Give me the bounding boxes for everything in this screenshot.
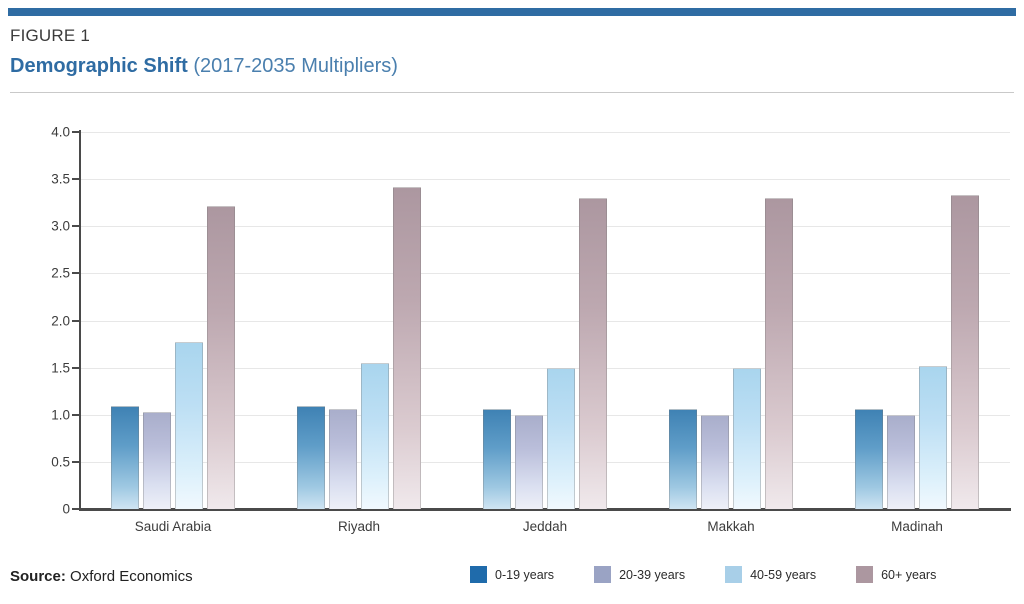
- bar-group: [111, 132, 235, 509]
- y-axis-tick-label: 2.0: [8, 313, 70, 328]
- legend-swatch-icon: [725, 566, 742, 583]
- plot-area: [80, 132, 1010, 509]
- bar[interactable]: [297, 406, 325, 509]
- bar[interactable]: [669, 409, 697, 509]
- legend-item[interactable]: 0-19 years: [470, 566, 554, 583]
- chart-legend: 0-19 years20-39 years40-59 years60+ year…: [470, 566, 936, 583]
- y-axis-tick: [72, 272, 81, 274]
- x-axis-category-label: Riyadh: [338, 519, 380, 534]
- bar[interactable]: [701, 415, 729, 509]
- y-axis-tick-label: 3.5: [8, 172, 70, 187]
- bar[interactable]: [515, 415, 543, 509]
- y-axis-tick-label: 3.0: [8, 219, 70, 234]
- bar[interactable]: [887, 415, 915, 509]
- y-axis-tick: [72, 178, 81, 180]
- bar[interactable]: [393, 187, 421, 509]
- legend-label: 20-39 years: [619, 568, 685, 582]
- bar-group: [483, 132, 607, 509]
- bar[interactable]: [361, 363, 389, 509]
- y-axis-labels: 00.51.01.52.02.53.03.54.0: [0, 0, 70, 604]
- y-axis-tick: [72, 367, 81, 369]
- y-axis-tick-label: 4.0: [8, 125, 70, 140]
- legend-label: 0-19 years: [495, 568, 554, 582]
- bar-group: [297, 132, 421, 509]
- y-axis-tick-label: 1.5: [8, 360, 70, 375]
- bar[interactable]: [547, 368, 575, 509]
- x-axis-category-label: Jeddah: [523, 519, 567, 534]
- y-axis-tick-label: 2.5: [8, 266, 70, 281]
- x-axis-category-label: Saudi Arabia: [135, 519, 212, 534]
- y-axis-tick-label: 0: [8, 502, 70, 517]
- bar[interactable]: [175, 342, 203, 509]
- source-value: Oxford Economics: [70, 568, 193, 585]
- bar[interactable]: [329, 409, 357, 509]
- figure-container: FIGURE 1 Demographic Shift (2017-2035 Mu…: [0, 0, 1024, 604]
- y-axis-tick: [72, 320, 81, 322]
- bar-group: [669, 132, 793, 509]
- legend-item[interactable]: 60+ years: [856, 566, 936, 583]
- bar-group: [855, 132, 979, 509]
- bar[interactable]: [951, 195, 979, 509]
- y-axis-tick: [72, 131, 81, 133]
- header-divider: [10, 92, 1014, 93]
- y-axis-tick: [72, 414, 81, 416]
- bar[interactable]: [579, 198, 607, 509]
- legend-swatch-icon: [470, 566, 487, 583]
- y-axis-tick-label: 1.0: [8, 407, 70, 422]
- figure-title-sub: (2017-2035 Multipliers): [193, 55, 398, 77]
- y-axis-tick-label: 0.5: [8, 454, 70, 469]
- bar[interactable]: [855, 409, 883, 509]
- legend-swatch-icon: [594, 566, 611, 583]
- legend-item[interactable]: 40-59 years: [725, 566, 816, 583]
- x-axis-category-label: Madinah: [891, 519, 943, 534]
- bar[interactable]: [919, 366, 947, 509]
- legend-item[interactable]: 20-39 years: [594, 566, 685, 583]
- bar[interactable]: [207, 206, 235, 509]
- header-accent-bar: [8, 8, 1016, 16]
- bar[interactable]: [111, 406, 139, 509]
- source-note: Source: Oxford Economics: [10, 568, 193, 585]
- legend-label: 60+ years: [881, 568, 936, 582]
- bar[interactable]: [483, 409, 511, 509]
- bar[interactable]: [765, 198, 793, 509]
- legend-label: 40-59 years: [750, 568, 816, 582]
- y-axis-tick: [72, 461, 81, 463]
- bar[interactable]: [143, 412, 171, 509]
- x-axis-category-label: Makkah: [707, 519, 754, 534]
- source-label: Source:: [10, 568, 66, 585]
- y-axis-tick: [72, 508, 81, 510]
- legend-swatch-icon: [856, 566, 873, 583]
- y-axis-tick: [72, 225, 81, 227]
- bar[interactable]: [733, 368, 761, 509]
